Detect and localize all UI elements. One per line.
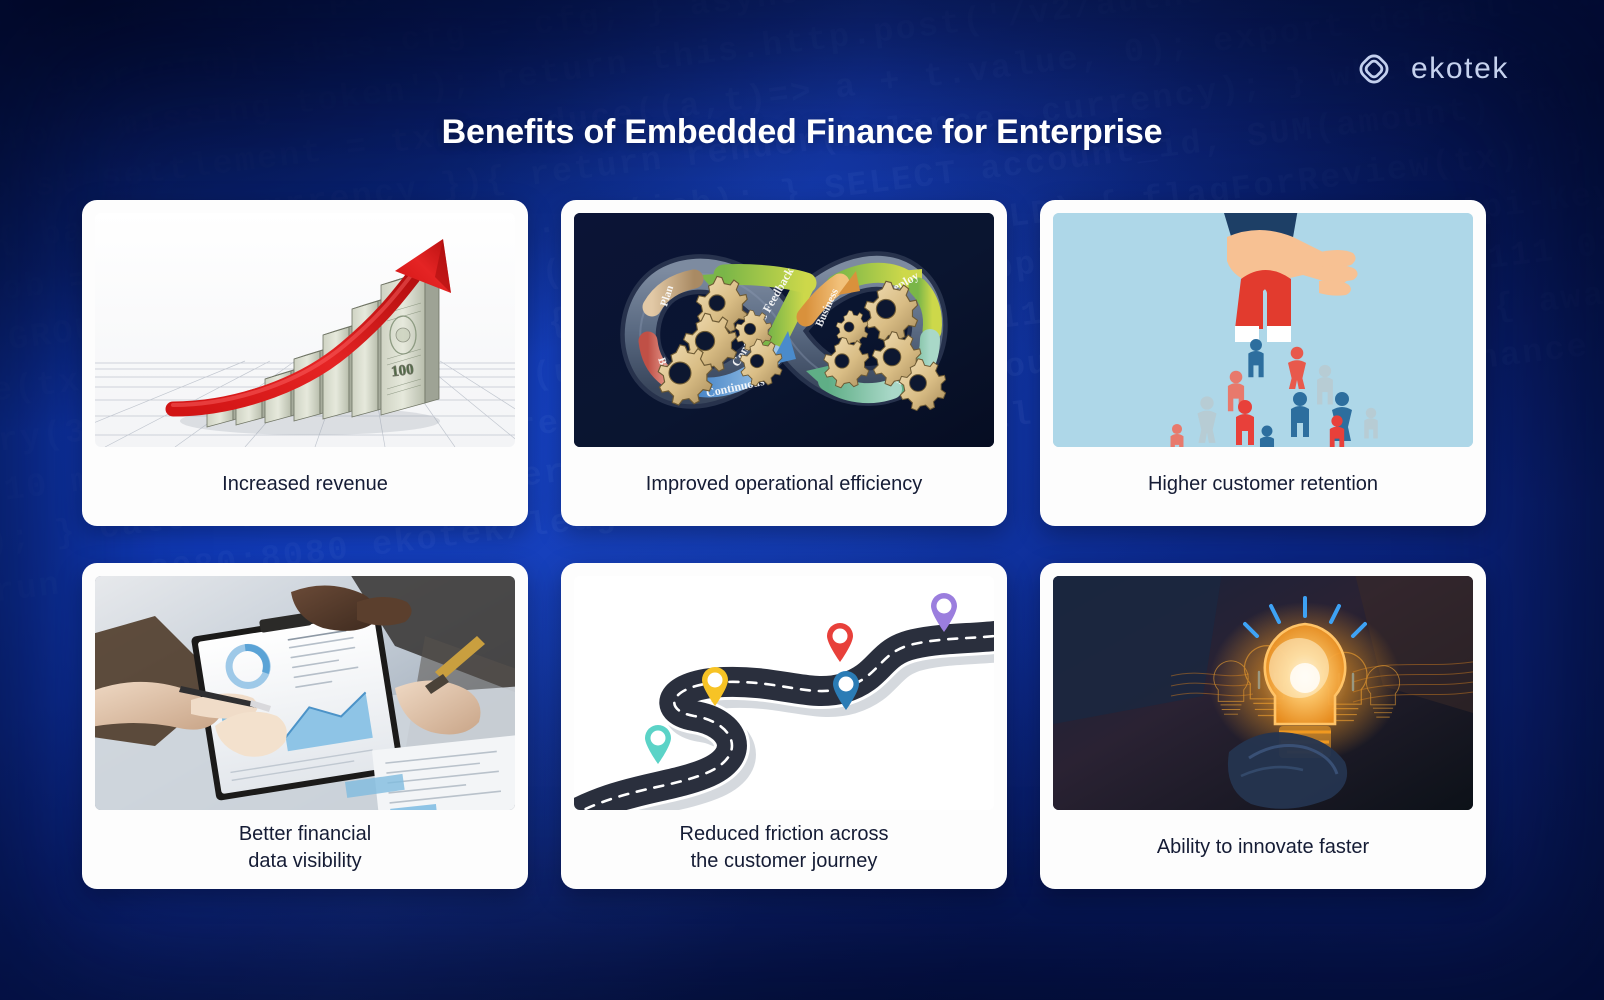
benefit-card-better-financial-data-visibility[interactable]: Better financial data visibility xyxy=(82,563,528,889)
winding-road-journey-image xyxy=(574,576,994,810)
benefit-card-increased-revenue[interactable]: 100 Increased reven xyxy=(82,200,528,526)
magnet-attracting-customers-image xyxy=(1053,213,1473,447)
card-caption: Ability to innovate faster xyxy=(1053,810,1473,889)
benefit-card-reduced-friction-customer-journey[interactable]: Reduced friction across the customer jou… xyxy=(561,563,1007,889)
card-caption: Higher customer retention xyxy=(1053,447,1473,526)
glowing-lightbulb-innovation-photo xyxy=(1053,576,1473,810)
card-caption: Improved operational efficiency xyxy=(574,447,994,526)
business-meeting-charts-photo xyxy=(95,576,515,810)
svg-text:100: 100 xyxy=(390,362,414,381)
card-caption-line-1: Reduced friction across xyxy=(680,823,889,845)
card-caption-line-1: Better financial xyxy=(239,823,371,845)
brand-logo[interactable]: ekotek xyxy=(1353,48,1509,90)
card-caption: Increased revenue xyxy=(95,447,515,526)
card-caption-line-2: data visibility xyxy=(248,850,361,872)
benefit-card-higher-customer-retention[interactable]: Higher customer retention xyxy=(1040,200,1486,526)
rising-bar-chart-money-image: 100 xyxy=(95,213,515,447)
card-caption: Better financial data visibility xyxy=(95,810,515,889)
ekotek-logo-icon xyxy=(1353,48,1395,90)
benefits-grid: 100 Increased reven xyxy=(82,200,1486,889)
benefit-card-improved-operational-efficiency[interactable]: Continuous Feedback Plan Build Continuou… xyxy=(561,200,1007,526)
card-caption: Reduced friction across the customer jou… xyxy=(574,810,994,889)
card-caption-line-2: the customer journey xyxy=(691,850,878,872)
devops-infinity-loop-image: Continuous Feedback Plan Build Continuou… xyxy=(574,213,994,447)
brand-wordmark: ekotek xyxy=(1411,52,1509,86)
page-title: Benefits of Embedded Finance for Enterpr… xyxy=(0,113,1604,152)
benefit-card-ability-to-innovate-faster[interactable]: Ability to innovate faster xyxy=(1040,563,1486,889)
